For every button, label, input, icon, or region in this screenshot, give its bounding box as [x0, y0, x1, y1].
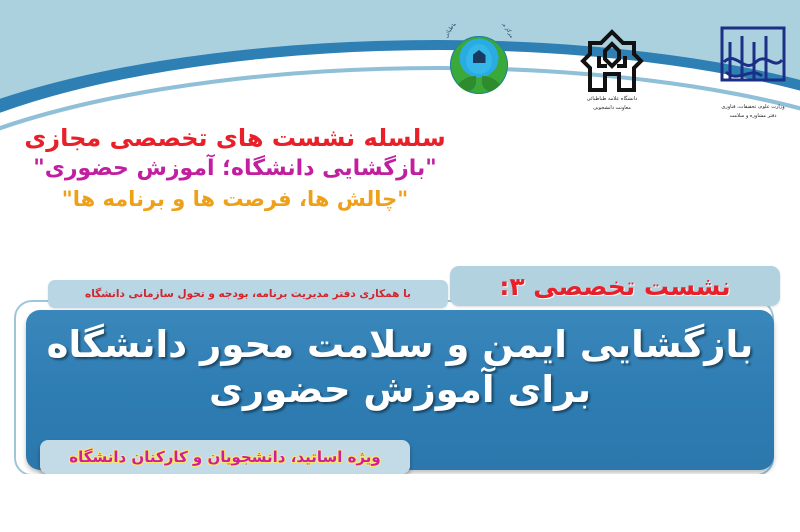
leaf-left-icon	[456, 76, 476, 92]
counseling-center-logo: مرکز مشاوره دانشگاه علامه طباطبائی	[450, 22, 508, 94]
headline-subtitle-quoted: "بازگشایی دانشگاه؛ آموزش حضوری"	[0, 156, 470, 183]
audience-badge: ویژه اساتید، دانشجویان و کارکنان دانشگاه	[40, 440, 410, 474]
leaf-right-icon	[482, 76, 502, 92]
allameh-university-logo: دانشگاه علامه طباطبائی معاونت دانشجویی	[579, 22, 645, 112]
main-title-line2: برای آموزش حضوری	[44, 369, 756, 410]
allameh-caption-line2: معاونت دانشجویی	[579, 105, 645, 112]
counseling-center-ring-text: مرکز مشاوره دانشگاه علامه طباطبائی	[440, 24, 518, 50]
session-label: نشست تخصصی ۳:	[499, 272, 730, 301]
svg-text:مرکز مشاوره دانشگاه علامه طباط: مرکز مشاوره دانشگاه علامه طباطبائی	[444, 24, 515, 39]
headline-topics-quoted: "چالش ها، فرصت ها و برنامه ها"	[0, 187, 470, 213]
bottom-white-strip	[0, 474, 800, 532]
allameh-caption-line1: دانشگاه علامه طباطبائی	[579, 96, 645, 103]
student-affairs-emblem-icon	[716, 22, 790, 102]
headline-series-title: سلسله نشست های تخصصی مجازی	[0, 124, 470, 153]
student-affairs-logo: وزارت علوم، تحقیقات، فناوری دفتر مشاوره …	[716, 22, 790, 120]
logo-row: مرکز مشاوره دانشگاه علامه طباطبائی دانشگ…	[450, 22, 790, 152]
cooperation-text: با همکاری دفتر مدیریت برنامه، بودجه و تح…	[85, 288, 411, 300]
student-affairs-caption-line1: وزارت علوم، تحقیقات، فناوری	[716, 104, 790, 111]
main-title-block: بازگشایی ایمن و سلامت محور دانشگاه برای …	[44, 324, 756, 411]
headline-block: سلسله نشست های تخصصی مجازی "بازگشایی دان…	[0, 124, 470, 213]
session-badge: نشست تخصصی ۳:	[450, 266, 780, 306]
cooperation-band: با همکاری دفتر مدیریت برنامه، بودجه و تح…	[48, 280, 448, 308]
student-affairs-caption-line2: دفتر مشاوره و سلامت	[716, 113, 790, 120]
poster-root: مرکز مشاوره دانشگاه علامه طباطبائی دانشگ…	[0, 0, 800, 532]
main-title-line1: بازگشایی ایمن و سلامت محور دانشگاه	[44, 324, 756, 365]
allameh-university-emblem-icon	[579, 28, 645, 94]
counseling-ring-label: مرکز مشاوره دانشگاه علامه طباطبائی	[444, 24, 515, 39]
audience-text: ویژه اساتید، دانشجویان و کارکنان دانشگاه	[69, 448, 380, 466]
